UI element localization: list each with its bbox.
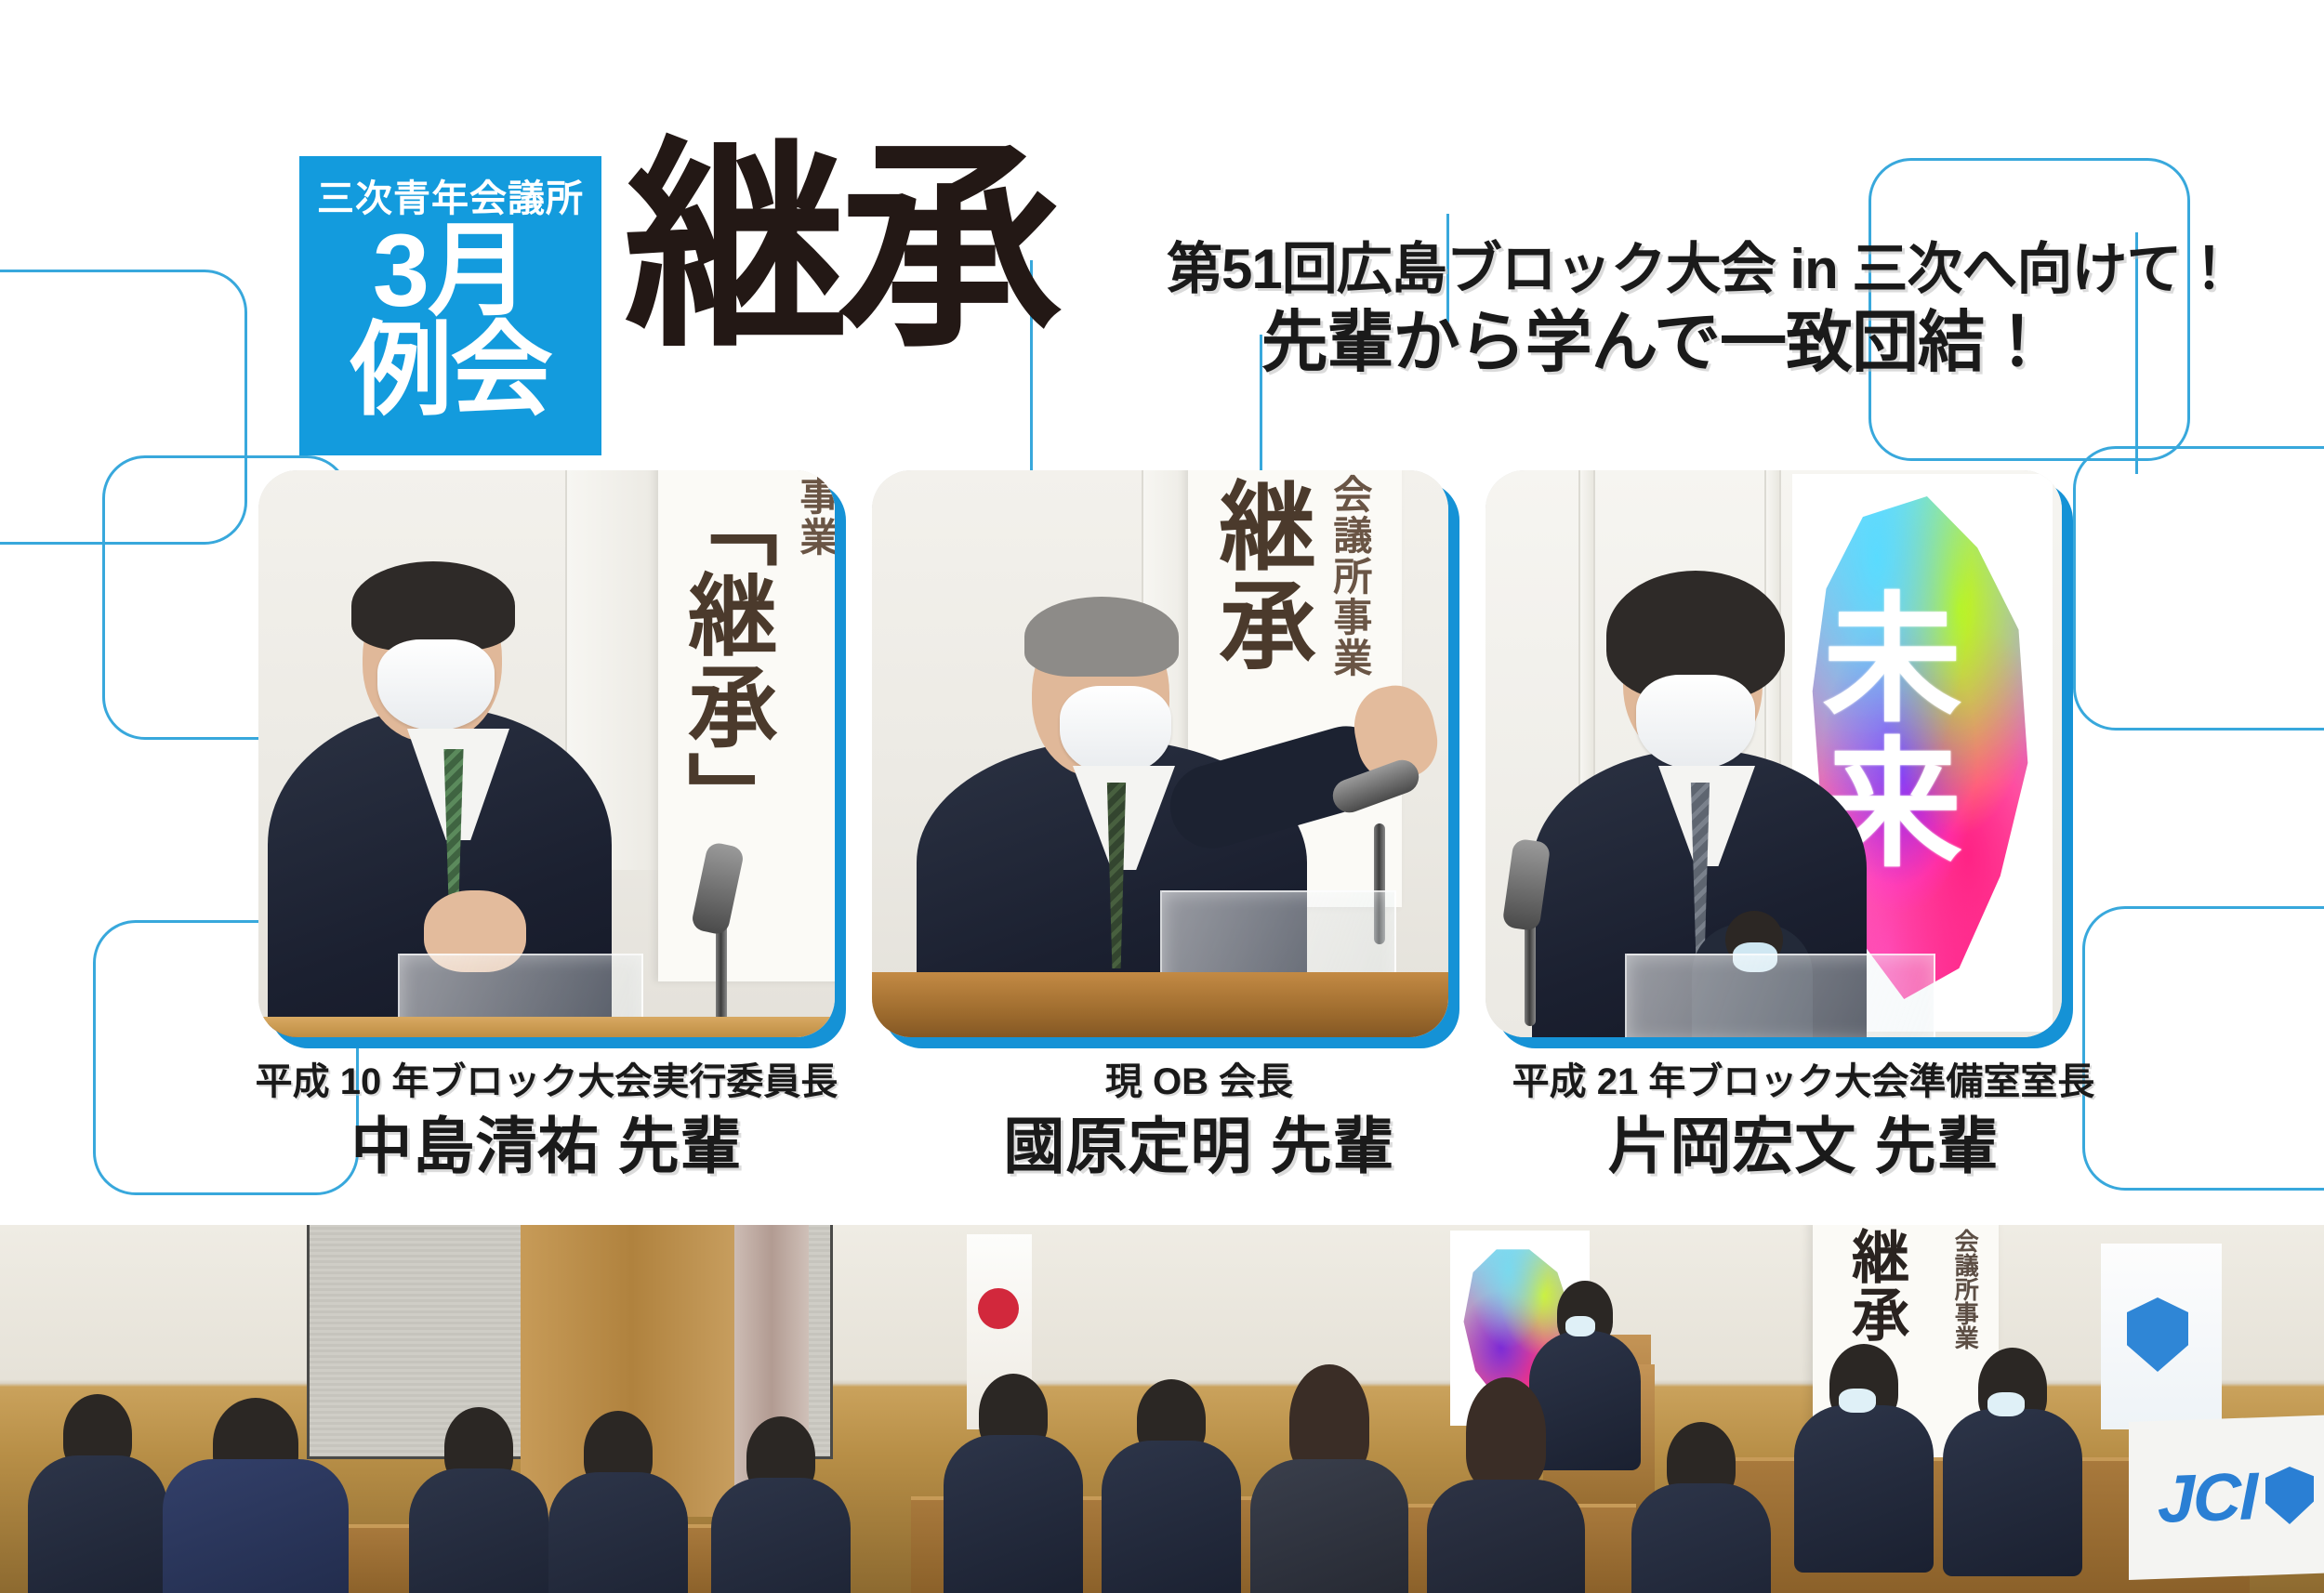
speaker-caption-2: 現 OB 会長 國原定明 先輩 <box>874 1060 1525 1183</box>
page-title: 継承 <box>625 141 1052 353</box>
photo2-banner-side-text: 会議所事業 <box>1329 474 1369 678</box>
photo1-banner-side-text: 事業 <box>796 476 835 558</box>
header: 三次青年会議所 3月 例会 継承 第51回広島ブロック大会 in 三次へ向けて！… <box>0 0 2324 455</box>
speaker-name-1: 中島清祐 先輩 <box>221 1110 872 1183</box>
speaker-role-1: 平成 10 年ブロック大会実行委員長 <box>221 1060 872 1104</box>
poster-root: 三次青年会議所 3月 例会 継承 第51回広島ブロック大会 in 三次へ向けて！… <box>0 0 2324 1593</box>
subtitle-line-1: 第51回広島ブロック大会 in 三次へ向けて！ <box>1167 237 2050 301</box>
speaker-photo-3: 未来 <box>1486 470 2062 1037</box>
speaker-caption-3: 平成 21 年ブロック大会準備室室長 片岡宏文 先輩 <box>1469 1060 2138 1183</box>
badge-organization: 三次青年会議所 <box>317 180 584 217</box>
month-meeting-badge: 三次青年会議所 3月 例会 <box>299 156 601 455</box>
speaker-photo-1: 「継承」 事業 <box>258 470 835 1037</box>
badge-kind: 例会 <box>350 323 551 420</box>
speaker-role-2: 現 OB 会長 <box>874 1060 1525 1104</box>
speaker-role-3: 平成 21 年ブロック大会準備室室長 <box>1469 1060 2138 1104</box>
jci-shield-icon <box>2265 1466 2314 1525</box>
venue-photo: 継承 会議所事業 JCI <box>0 1225 2324 1593</box>
speaker-name-3: 片岡宏文 先輩 <box>1469 1110 2138 1183</box>
speaker-captions: 平成 10 年ブロック大会実行委員長 中島清祐 先輩 現 OB 会長 國原定明 … <box>0 1060 2324 1227</box>
badge-month: 3月 <box>373 223 528 321</box>
venue-banner-text: 継承 <box>1844 1227 1905 1342</box>
speaker-name-2: 國原定明 先輩 <box>874 1110 1525 1183</box>
subtitle-line-2: 先輩から学んで一致団結！ <box>1167 305 2050 382</box>
speaker-photo-row: 「継承」 事業 継承 <box>0 465 2324 1060</box>
subtitle-block: 第51回広島ブロック大会 in 三次へ向けて！ 先輩から学んで一致団結！ <box>1167 237 2050 382</box>
photo1-banner-text: 「継承」 <box>679 478 770 842</box>
photo2-banner-text: 継承 <box>1208 476 1307 673</box>
podium-sign-text: JCI <box>2158 1458 2256 1538</box>
venue-banner-side-text: 会議所事業 <box>1952 1229 1977 1349</box>
speaker-photo-2: 継承 会議所事業 <box>872 470 1448 1037</box>
speaker-caption-1: 平成 10 年ブロック大会実行委員長 中島清祐 先輩 <box>221 1060 872 1183</box>
podium-sign: JCI <box>2129 1415 2324 1580</box>
